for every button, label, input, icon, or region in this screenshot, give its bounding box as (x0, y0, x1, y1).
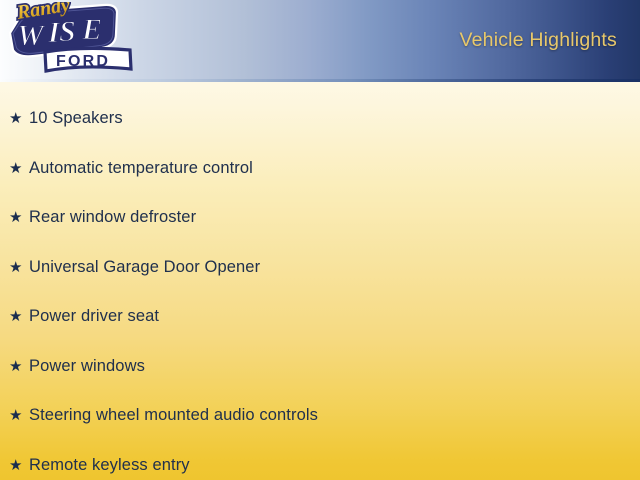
list-item: ★ Steering wheel mounted audio controls (0, 391, 640, 441)
list-item-label: Power windows (29, 357, 145, 376)
list-item-label: Universal Garage Door Opener (29, 258, 260, 277)
svg-text:S: S (59, 15, 76, 48)
star-icon: ★ (9, 458, 29, 473)
star-icon: ★ (9, 111, 29, 126)
list-item-label: Steering wheel mounted audio controls (29, 406, 318, 425)
vehicle-highlights-slide: W I S E Randy Randy FORD Vehicle Highlig… (0, 0, 640, 480)
list-item-label: 10 Speakers (29, 109, 123, 128)
list-item: ★ Automatic temperature control (0, 144, 640, 194)
svg-text:W: W (17, 19, 46, 52)
list-item: ★ Power windows (0, 342, 640, 392)
list-item: ★ Rear window defroster (0, 193, 640, 243)
svg-text:E: E (81, 13, 102, 46)
list-item: ★ Remote keyless entry (0, 441, 640, 480)
page-title: Vehicle Highlights (459, 29, 617, 52)
svg-text:FORD: FORD (56, 53, 110, 70)
star-icon: ★ (9, 260, 29, 275)
star-icon: ★ (9, 309, 29, 324)
list-item-label: Automatic temperature control (29, 159, 253, 178)
star-icon: ★ (9, 161, 29, 176)
list-item-label: Remote keyless entry (29, 456, 190, 475)
header-banner: W I S E Randy Randy FORD Vehicle Highlig… (0, 0, 640, 82)
list-item-label: Rear window defroster (29, 208, 196, 227)
list-item-label: Power driver seat (29, 307, 159, 326)
vehicle-highlights-list: ★ 10 Speakers ★ Automatic temperature co… (0, 82, 640, 480)
list-item: ★ Power driver seat (0, 292, 640, 342)
list-item: ★ Universal Garage Door Opener (0, 243, 640, 293)
list-item: ★ 10 Speakers (0, 94, 640, 144)
star-icon: ★ (9, 408, 29, 423)
star-icon: ★ (9, 210, 29, 225)
randy-wise-ford-logo: W I S E Randy Randy FORD (4, 2, 138, 80)
star-icon: ★ (9, 359, 29, 374)
